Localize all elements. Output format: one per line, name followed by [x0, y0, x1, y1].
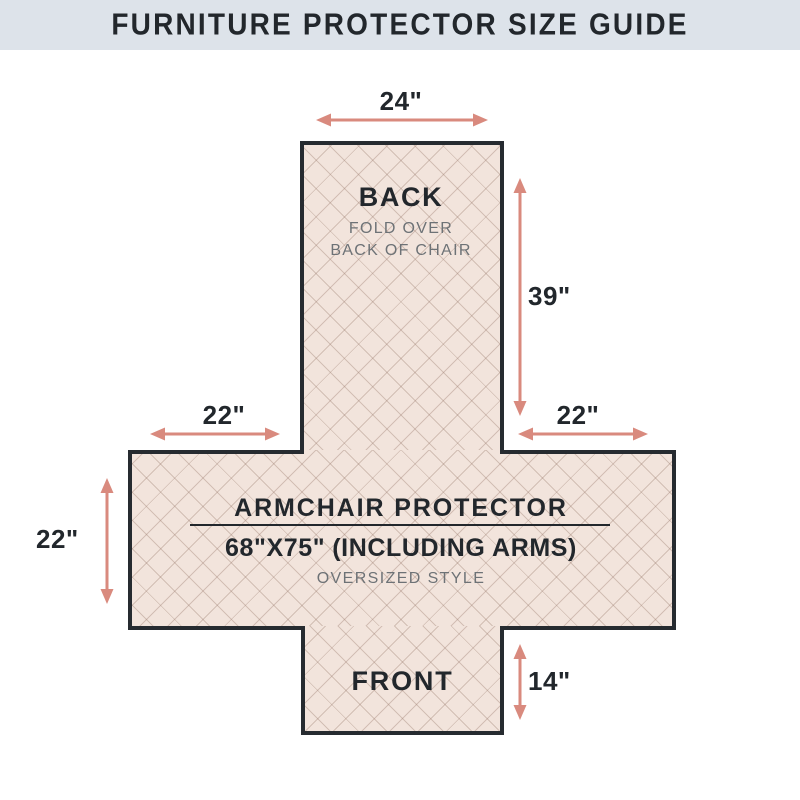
front-panel-label: FRONT: [303, 666, 502, 697]
dimension-arrow-front-skirt: [512, 644, 528, 720]
header-band: FURNITURE PROTECTOR SIZE GUIDE: [0, 0, 800, 50]
outline-left-arm-bottom: [128, 626, 303, 630]
back-panel-subtitle-line1: FOLD OVER: [300, 218, 502, 240]
product-size-note: (INCLUDING ARMS): [325, 534, 577, 562]
dimension-label-front-skirt: 14": [528, 666, 571, 697]
product-size: 68"X75": [225, 534, 325, 562]
product-style: OVERSIZED STYLE: [128, 570, 674, 588]
dimension-arrow-back-height: [512, 178, 528, 416]
product-name-underline: [190, 524, 610, 526]
dimension-arrow-seat-depth: [99, 478, 115, 604]
page-title: FURNITURE PROTECTOR SIZE GUIDE: [111, 8, 688, 43]
dimension-arrow-left-arm-width: [150, 426, 280, 442]
back-panel-subtitle-line2: BACK OF CHAIR: [290, 240, 512, 262]
outline-right-arm-bottom: [500, 626, 676, 630]
back-panel-label: BACK: [300, 182, 502, 213]
outline-front-bottom: [301, 731, 504, 735]
product-name: ARMCHAIR PROTECTOR: [128, 494, 674, 523]
outline-back-top: [300, 141, 504, 145]
dimension-label-seat-depth: 22": [36, 524, 79, 555]
outline-left-arm-top: [128, 450, 304, 454]
outline-right-arm-top: [500, 450, 676, 454]
dimension-arrow-right-arm-width: [518, 426, 648, 442]
size-guide-diagram: FURNITURE PROTECTOR SIZE GUIDE BACK FOLD…: [0, 0, 800, 800]
product-size-row: 68"X75"(INCLUDING ARMS): [128, 534, 674, 563]
dimension-label-back-height: 39": [528, 281, 571, 312]
dimension-arrow-back-width: [316, 112, 488, 128]
